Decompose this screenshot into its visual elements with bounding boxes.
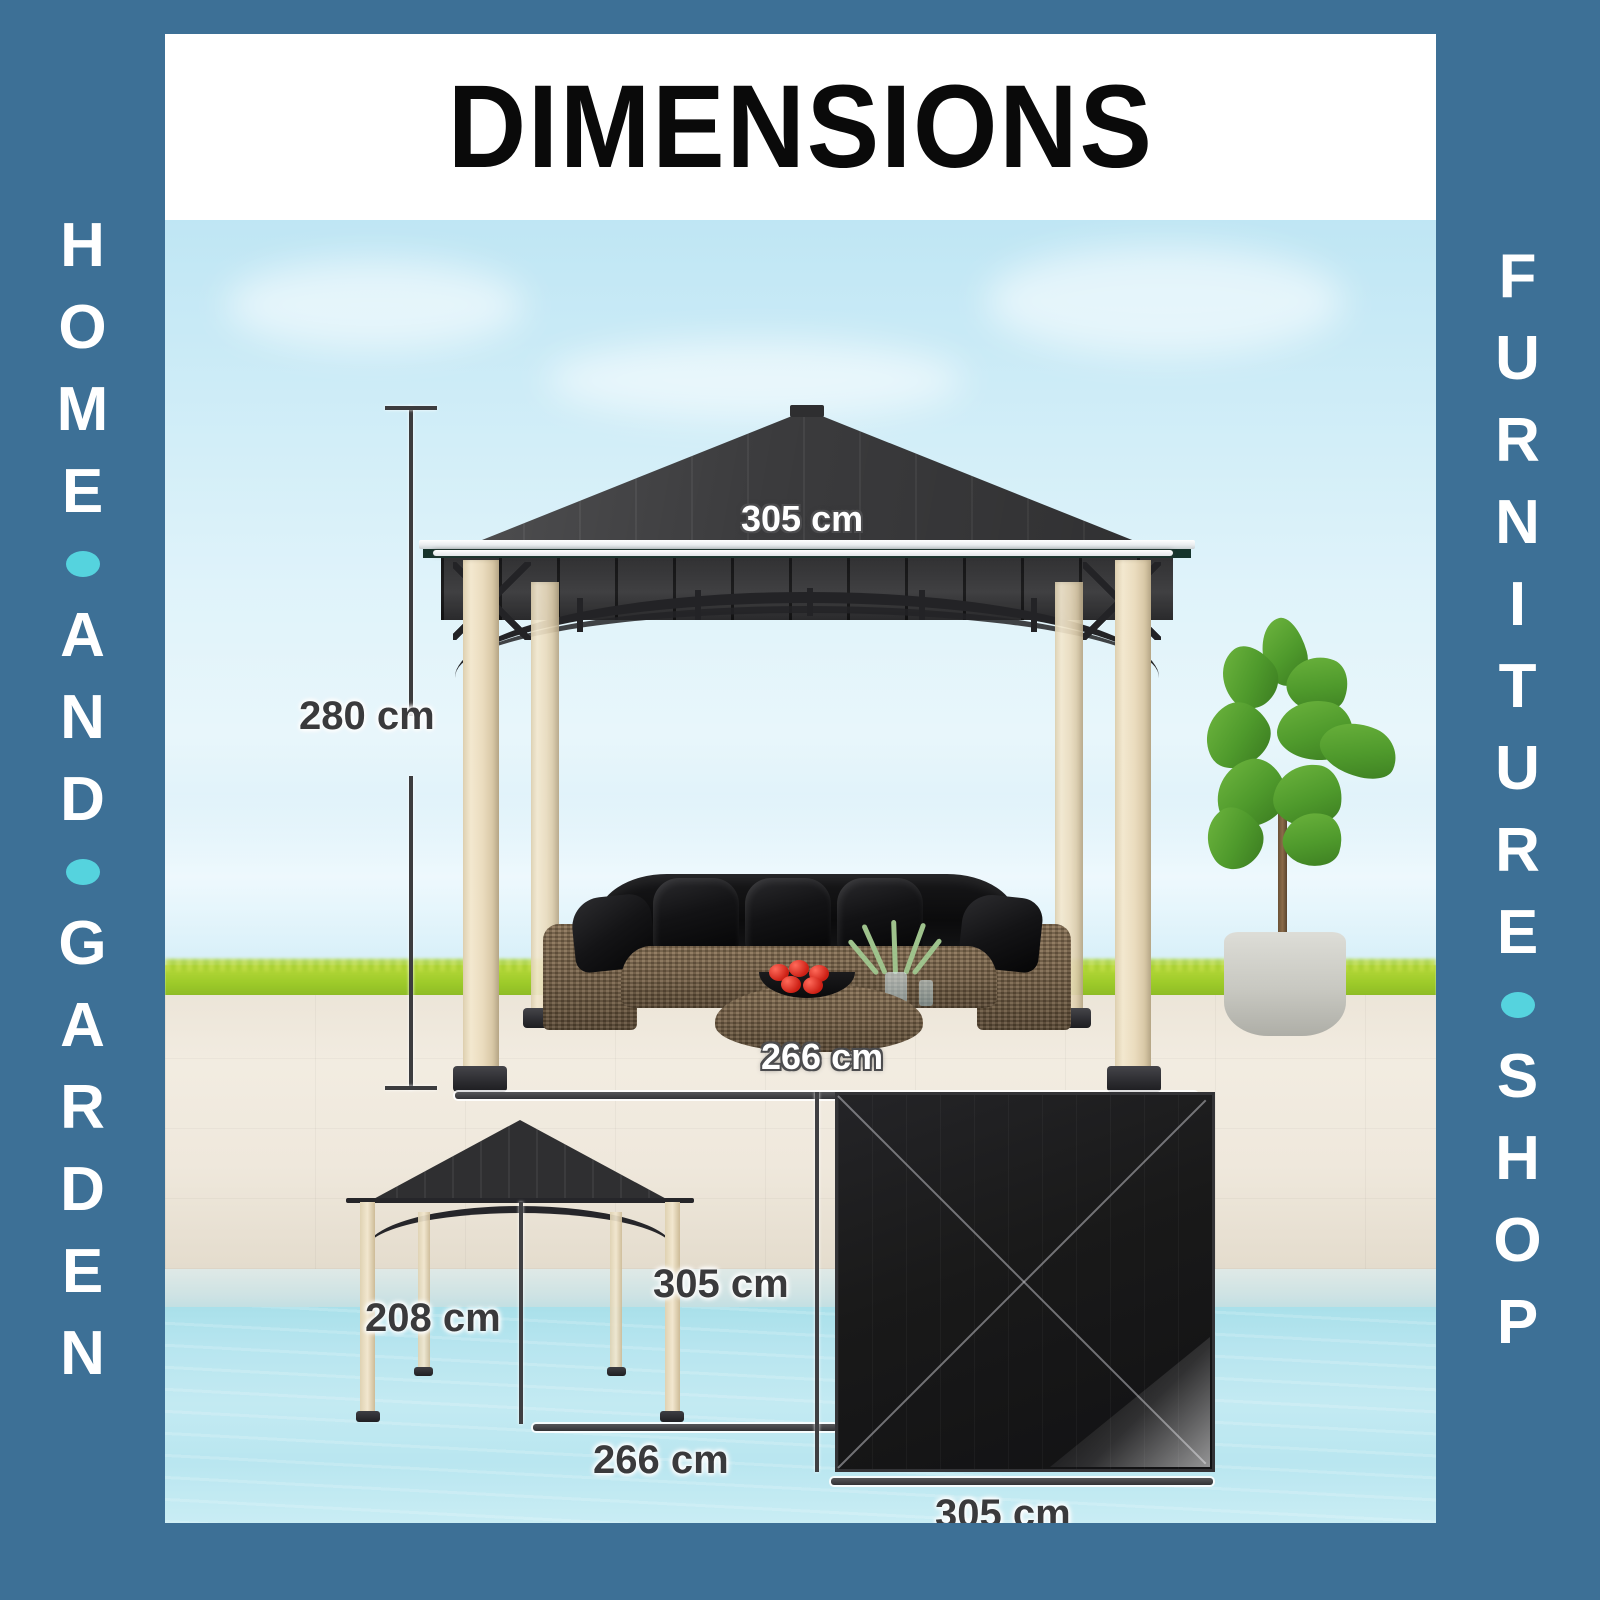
rail-letter: A [60, 605, 105, 667]
right-brand-rail: FURNITURESHOP [1435, 0, 1600, 1600]
fruit [803, 977, 823, 994]
sofa-cushion [745, 878, 831, 954]
post-foot [453, 1066, 507, 1092]
cloud-shape [545, 340, 965, 420]
top-width-dimension-line [831, 1478, 1213, 1485]
roof-width-dimension-line [433, 550, 1173, 556]
side-width-dimension-line [533, 1424, 837, 1431]
rail-letter: G [58, 913, 106, 975]
rail-letter: D [60, 769, 105, 831]
hero-base-width-label: 266 cm [761, 1036, 883, 1078]
drinking-glass [919, 980, 933, 1006]
rail-letter: D [60, 1159, 105, 1221]
rail-dot-separator [66, 859, 100, 885]
rail-letter: I [1509, 574, 1526, 636]
gazebo-post-front-right [1115, 560, 1151, 1070]
rail-letter: O [58, 297, 106, 359]
content-card: DIMENSIONS [165, 34, 1436, 1523]
plant-pot [1224, 932, 1346, 1036]
rail-letter: H [1495, 1128, 1540, 1190]
rail-letter: N [60, 687, 105, 749]
side-width-label: 266 cm [593, 1438, 729, 1483]
rail-letter: R [60, 1077, 105, 1139]
roof-plate [835, 1092, 1215, 1472]
mini-post-foot [607, 1367, 626, 1376]
rail-letter: E [62, 461, 103, 523]
side-height-dimension-line [519, 1202, 523, 1424]
rail-letter: F [1499, 246, 1537, 308]
mini-post-front-right [665, 1202, 680, 1414]
rail-dot-separator [1501, 992, 1535, 1018]
rail-letter: S [1497, 1046, 1538, 1108]
hero-roof-width-label: 305 cm [741, 498, 863, 540]
arch-rung [919, 590, 925, 620]
top-height-dimension-line [815, 1092, 819, 1472]
top-height-label: 305 cm [653, 1262, 789, 1307]
fruit [789, 960, 809, 977]
cloud-shape [225, 260, 525, 350]
top-width-label: 305 cm [935, 1492, 1071, 1523]
mini-post-back-left [418, 1212, 430, 1370]
potted-fig-plant [1170, 612, 1400, 1036]
arch-rung [577, 598, 583, 632]
rail-letter: E [1497, 902, 1538, 964]
height-dimension-line-lower [409, 776, 413, 1090]
rail-letter: R [1495, 820, 1540, 882]
arch-rung [807, 588, 813, 616]
dimension-tick-top [385, 406, 437, 410]
gazebo-post-front-left [463, 560, 499, 1070]
mini-post-foot [356, 1411, 380, 1422]
dimension-tick-bottom [385, 1086, 437, 1090]
sofa-cushion [653, 878, 739, 954]
post-foot [1107, 1066, 1161, 1092]
rail-letter: P [1497, 1292, 1538, 1354]
mini-post-foot [414, 1367, 433, 1376]
cloud-shape [985, 246, 1345, 356]
rattan-sofa-set [537, 868, 1077, 1058]
rail-letter: R [1495, 410, 1540, 472]
arch-rung [695, 590, 701, 620]
roof-top-view [835, 1092, 1215, 1472]
rail-letter: U [1495, 738, 1540, 800]
rail-letter: E [62, 1241, 103, 1303]
rail-dot-separator [66, 551, 100, 577]
rail-letter: N [1495, 492, 1540, 554]
left-brand-rail: HOMEANDGARDEN [0, 0, 165, 1600]
mini-post-foot [660, 1411, 684, 1422]
rail-letter: N [60, 1323, 105, 1385]
fruit [781, 976, 801, 993]
rail-letter: H [60, 215, 105, 277]
title-band: DIMENSIONS [165, 34, 1436, 220]
side-height-label: 208 cm [365, 1296, 501, 1341]
rail-letter: O [1493, 1210, 1541, 1272]
rail-letter: M [57, 379, 109, 441]
roof-eave-trim [419, 540, 1195, 549]
height-dimension-line-upper [409, 406, 413, 716]
arch-rung [1031, 598, 1037, 632]
rail-letter: A [60, 995, 105, 1057]
mini-post-back-right [610, 1212, 622, 1370]
roof-ridge-cap [790, 405, 824, 417]
roof-highlight [1050, 1337, 1210, 1467]
page-title: DIMENSIONS [447, 59, 1153, 195]
hero-height-label: 280 cm [299, 694, 435, 739]
product-scene: 280 cm 305 cm 266 cm 208 cm 266 cm [165, 220, 1436, 1523]
plant-stem [891, 920, 898, 974]
rail-letter: U [1495, 328, 1540, 390]
rail-letter: T [1499, 656, 1537, 718]
